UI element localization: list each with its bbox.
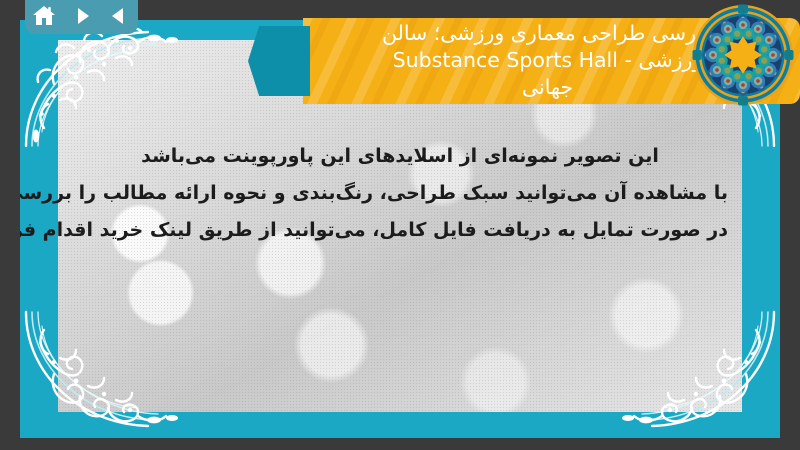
previous-button[interactable] [106,3,132,29]
title-line-1: بررسی طراحی معماری ورزشی؛ سالن [382,20,713,47]
next-button[interactable] [69,3,95,29]
body-line-2: با مشاهده آن می‌توانید سبک طراحی، رنگ‌بن… [72,175,728,212]
banner-arrow-icon [248,26,310,96]
title-line-3: جهانی [522,74,573,101]
persian-mandala-medallion-icon [692,4,794,106]
slide-body-text: این تصویر نمونه‌ای از اسلایدهای این پاور… [72,138,728,249]
home-button[interactable] [31,3,57,29]
previous-triangle-icon [109,6,129,26]
title-line-2: ورزشی - Substance Sports Hall [393,47,703,74]
presentation-viewer: این تصویر نمونه‌ای از اسلایدهای این پاور… [0,0,800,450]
body-line-1: این تصویر نمونه‌ای از اسلایدهای این پاور… [72,138,728,175]
next-triangle-icon [72,6,92,26]
home-icon [32,5,56,27]
body-line-3: در صورت تمایل به دریافت فایل کامل، می‌تو… [72,212,728,249]
navigation-bar [25,0,138,34]
